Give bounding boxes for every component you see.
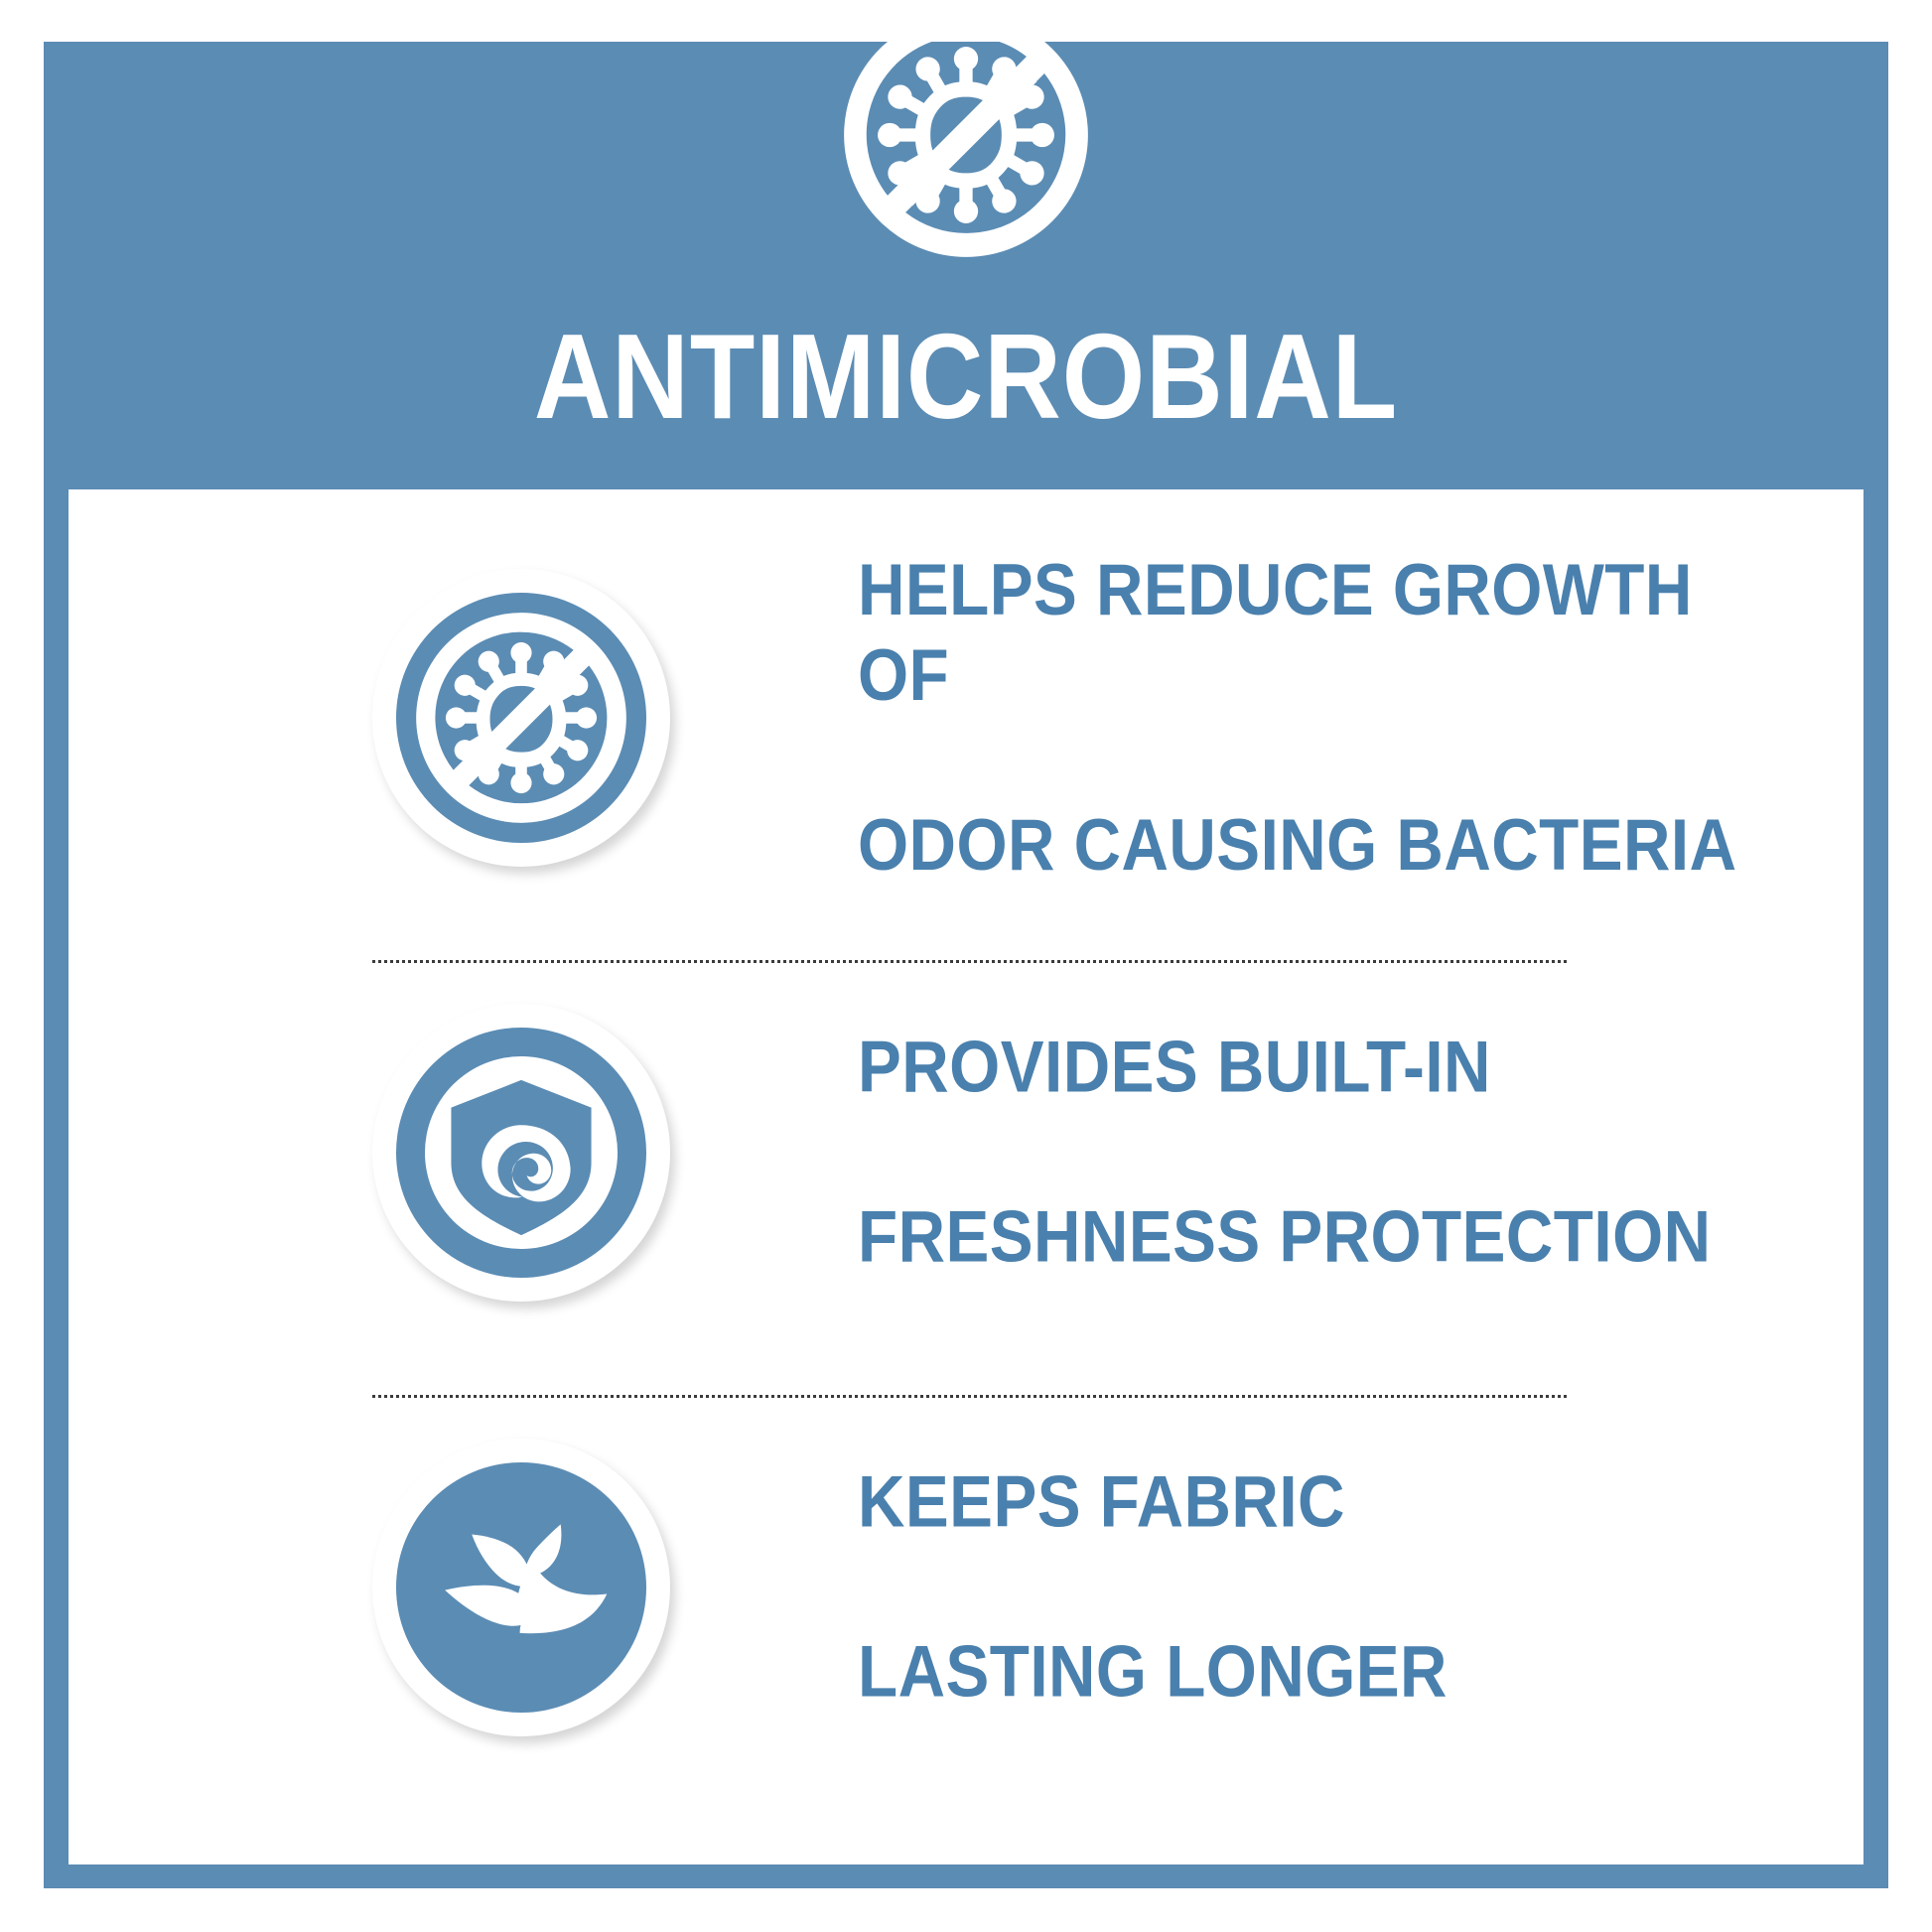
feature-line-1: KEEPS FABRIC (858, 1460, 1448, 1545)
feature-text: KEEPS FABRIC LASTING LONGER (858, 1375, 1513, 1799)
feature-line-1: HELPS REDUCE GROWTH OF (858, 548, 1763, 718)
feature-line-2: ODOR CAUSING BACTERIA (858, 802, 1763, 887)
feature-row: HELPS REDUCE GROWTH OF ODOR CAUSING BACT… (69, 529, 1863, 906)
row-divider (372, 960, 1567, 963)
feature-text: HELPS REDUCE GROWTH OF ODOR CAUSING BACT… (858, 464, 1863, 972)
features-panel: HELPS REDUCE GROWTH OF ODOR CAUSING BACT… (69, 489, 1863, 1864)
row-divider (372, 1395, 1567, 1398)
feature-line-2: FRESHNESS PROTECTION (858, 1195, 1712, 1280)
page-title: ANTIMICROBIAL (116, 316, 1816, 437)
feature-row: PROVIDES BUILT-IN FRESHNESS PROTECTION (69, 964, 1863, 1341)
shield-swirl-icon (372, 1004, 670, 1302)
infographic-canvas: ANTIMICROBIAL (0, 0, 1932, 1932)
feature-line-2: LASTING LONGER (858, 1630, 1448, 1715)
feature-text: PROVIDES BUILT-IN FRESHNESS PROTECTION (858, 940, 1806, 1364)
leaf-sprout-icon (372, 1439, 670, 1736)
no-virus-circle-icon (372, 569, 670, 867)
no-virus-icon (839, 8, 1093, 262)
feature-line-1: PROVIDES BUILT-IN (858, 1026, 1712, 1110)
feature-row: KEEPS FABRIC LASTING LONGER (69, 1399, 1863, 1776)
